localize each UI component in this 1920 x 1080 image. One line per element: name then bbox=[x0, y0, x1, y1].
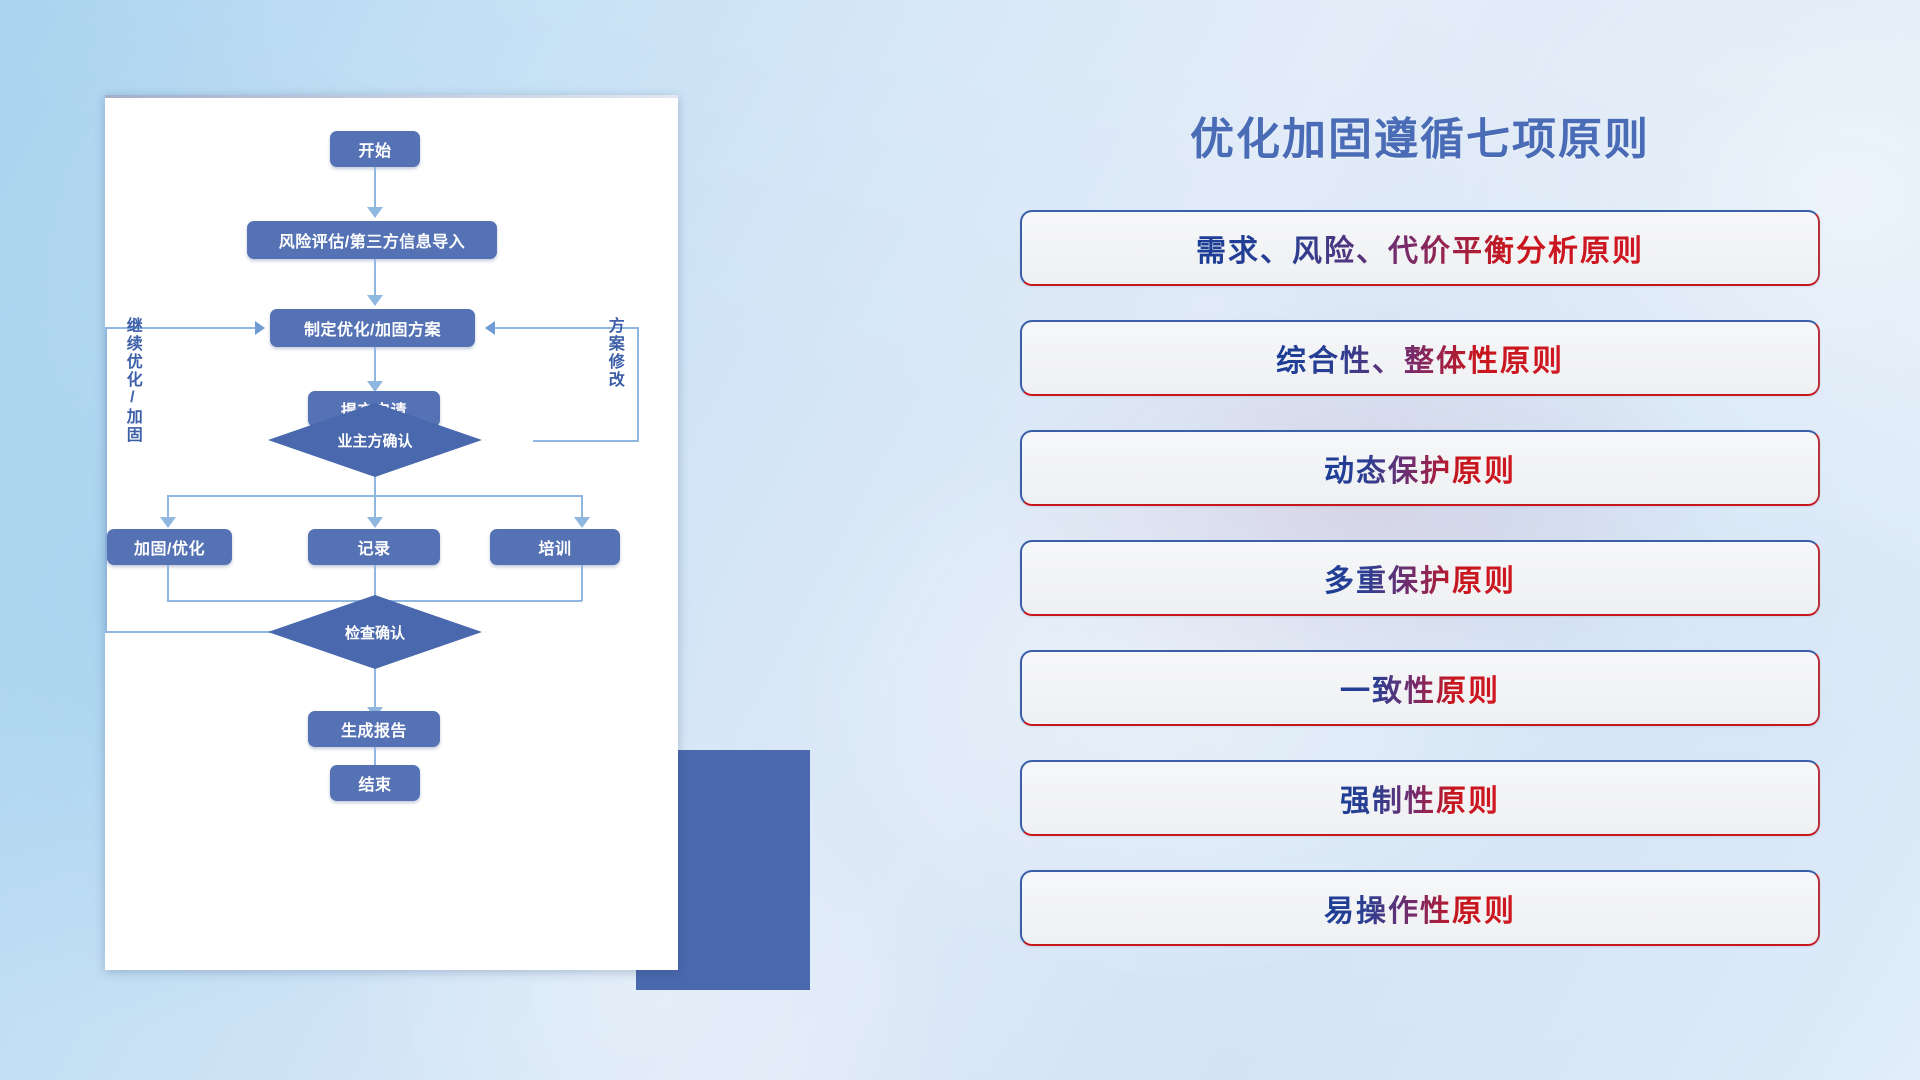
principle-card[interactable]: 易操作性原则 bbox=[1020, 870, 1820, 946]
principle-card[interactable]: 动态保护原则 bbox=[1020, 430, 1820, 506]
flow-node-plan[interactable]: 制定优化/加固方案 bbox=[270, 309, 475, 347]
principle-card[interactable]: 强制性原则 bbox=[1020, 760, 1820, 836]
flowchart: 开始 风险评估/第三方信息导入 制定优化/加固方案 继续优化/加固 方案修改 bbox=[105, 95, 678, 970]
principle-label: 需求、风险、代价平衡分析原则 bbox=[1196, 226, 1644, 270]
arrow-right-icon bbox=[255, 321, 265, 335]
flow-decision-inspect-confirm[interactable]: 检查确认 bbox=[268, 595, 482, 669]
flow-edge-label-right-loop: 方案修改 bbox=[605, 317, 622, 389]
flow-node-finish-label: 结束 bbox=[358, 771, 391, 795]
principle-card[interactable]: 多重保护原则 bbox=[1020, 540, 1820, 616]
flow-node-start[interactable]: 开始 bbox=[330, 131, 420, 167]
flow-node-reinforce-label: 加固/优化 bbox=[134, 535, 205, 559]
slide-canvas: 开始 风险评估/第三方信息导入 制定优化/加固方案 继续优化/加固 方案修改 bbox=[0, 0, 1920, 1080]
flow-node-start-label: 开始 bbox=[358, 137, 391, 161]
flow-edge-label-left-loop-text: 继续优化/加固 bbox=[124, 317, 141, 444]
principle-label: 易操作性原则 bbox=[1324, 886, 1516, 930]
page-title: 优化加固遵循七项原则 bbox=[1010, 103, 1830, 167]
arrow-down-icon bbox=[367, 295, 383, 306]
connector-left-loop-vertical bbox=[105, 327, 107, 633]
connector-start-to-risk bbox=[374, 167, 376, 211]
flow-node-finish[interactable]: 结束 bbox=[330, 765, 420, 801]
arrow-left-icon bbox=[485, 321, 495, 335]
flow-node-report[interactable]: 生成报告 bbox=[308, 711, 440, 747]
flow-edge-label-right-loop-text: 方案修改 bbox=[606, 317, 623, 389]
flow-node-training-label: 培训 bbox=[538, 535, 571, 559]
principle-card[interactable]: 综合性、整体性原则 bbox=[1020, 320, 1820, 396]
flow-node-reinforce[interactable]: 加固/优化 bbox=[107, 529, 232, 565]
arrow-down-icon bbox=[367, 207, 383, 218]
flow-node-report-label: 生成报告 bbox=[341, 717, 407, 741]
principle-card[interactable]: 需求、风险、代价平衡分析原则 bbox=[1020, 210, 1820, 286]
principle-label: 动态保护原则 bbox=[1324, 446, 1516, 490]
principles-list: 需求、风险、代价平衡分析原则 综合性、整体性原则 动态保护原则 多重保护原则 一… bbox=[1020, 210, 1820, 980]
connector-right-loop-bottom bbox=[533, 440, 639, 442]
flow-node-record[interactable]: 记录 bbox=[308, 529, 440, 565]
arrow-down-icon bbox=[574, 517, 590, 528]
connector-reinforce-down bbox=[167, 565, 169, 601]
principle-label: 强制性原则 bbox=[1340, 776, 1500, 820]
principle-label: 综合性、整体性原则 bbox=[1276, 336, 1564, 380]
connector-training-down bbox=[581, 565, 583, 601]
flow-edge-label-left-loop: 继续优化/加固 bbox=[123, 317, 140, 444]
flow-decision-owner-confirm[interactable]: 业主方确认 bbox=[268, 403, 482, 477]
connector-right-loop-vertical bbox=[637, 327, 639, 441]
arrow-down-icon bbox=[367, 517, 383, 528]
principles-panel: 优化加固遵循七项原则 需求、风险、代价平衡分析原则 综合性、整体性原则 动态保护… bbox=[1010, 85, 1830, 1005]
flow-node-risk-assessment-label: 风险评估/第三方信息导入 bbox=[279, 228, 465, 252]
flow-node-training[interactable]: 培训 bbox=[490, 529, 620, 565]
flow-node-risk-assessment[interactable]: 风险评估/第三方信息导入 bbox=[247, 221, 497, 259]
arrow-down-icon bbox=[160, 517, 176, 528]
flow-decision-owner-confirm-label: 业主方确认 bbox=[337, 430, 412, 451]
flow-node-plan-label: 制定优化/加固方案 bbox=[304, 316, 441, 340]
flow-node-record-label: 记录 bbox=[357, 535, 390, 559]
flow-decision-inspect-confirm-label: 检查确认 bbox=[345, 622, 405, 643]
principle-label: 多重保护原则 bbox=[1324, 556, 1516, 600]
principle-label: 一致性原则 bbox=[1340, 666, 1500, 710]
principle-card[interactable]: 一致性原则 bbox=[1020, 650, 1820, 726]
